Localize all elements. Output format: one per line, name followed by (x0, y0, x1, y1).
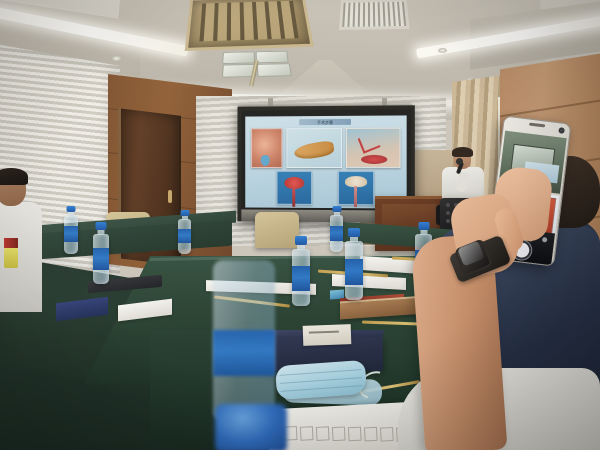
water-bottle-far-left[interactable] (64, 206, 78, 254)
face-mask[interactable] (275, 360, 367, 400)
conference-room-photo: 手术步骤 (0, 0, 600, 450)
slide-image-incision (346, 128, 401, 168)
ac-vent-small-icon (339, 0, 410, 30)
foreground-bottle-cap[interactable] (215, 404, 287, 450)
door-handle[interactable] (168, 190, 172, 203)
slide-image-patient-face (251, 128, 282, 167)
downlight-3 (438, 48, 447, 53)
foreground-bottle-label (213, 330, 275, 376)
switch-camera-icon[interactable] (542, 237, 548, 243)
front-camera-icon (558, 127, 565, 134)
slide-title: 手术步骤 (299, 119, 351, 125)
booklet[interactable] (303, 324, 352, 346)
attendee-left-hair (0, 168, 28, 185)
water-bottle-left[interactable] (93, 222, 109, 284)
water-bottle-far-center[interactable] (178, 210, 191, 254)
name-badge (4, 248, 18, 268)
slide-image-diagram-red (277, 171, 313, 205)
slide-image-specimen (286, 128, 342, 168)
water-bottle-far-right[interactable] (330, 206, 343, 252)
water-bottle-center[interactable] (292, 236, 310, 306)
microphone-head-icon (456, 158, 463, 165)
ac-vent-large-icon (185, 0, 314, 51)
earpiece-speaker-icon (529, 123, 545, 128)
presenter-hair (452, 147, 473, 157)
water-bottle-right[interactable] (345, 228, 363, 300)
badge-lanyard (4, 238, 18, 248)
slide-image-diagram-pale (338, 171, 374, 206)
downlight-1 (112, 56, 121, 61)
projected-slide: 手术步骤 (245, 115, 406, 208)
